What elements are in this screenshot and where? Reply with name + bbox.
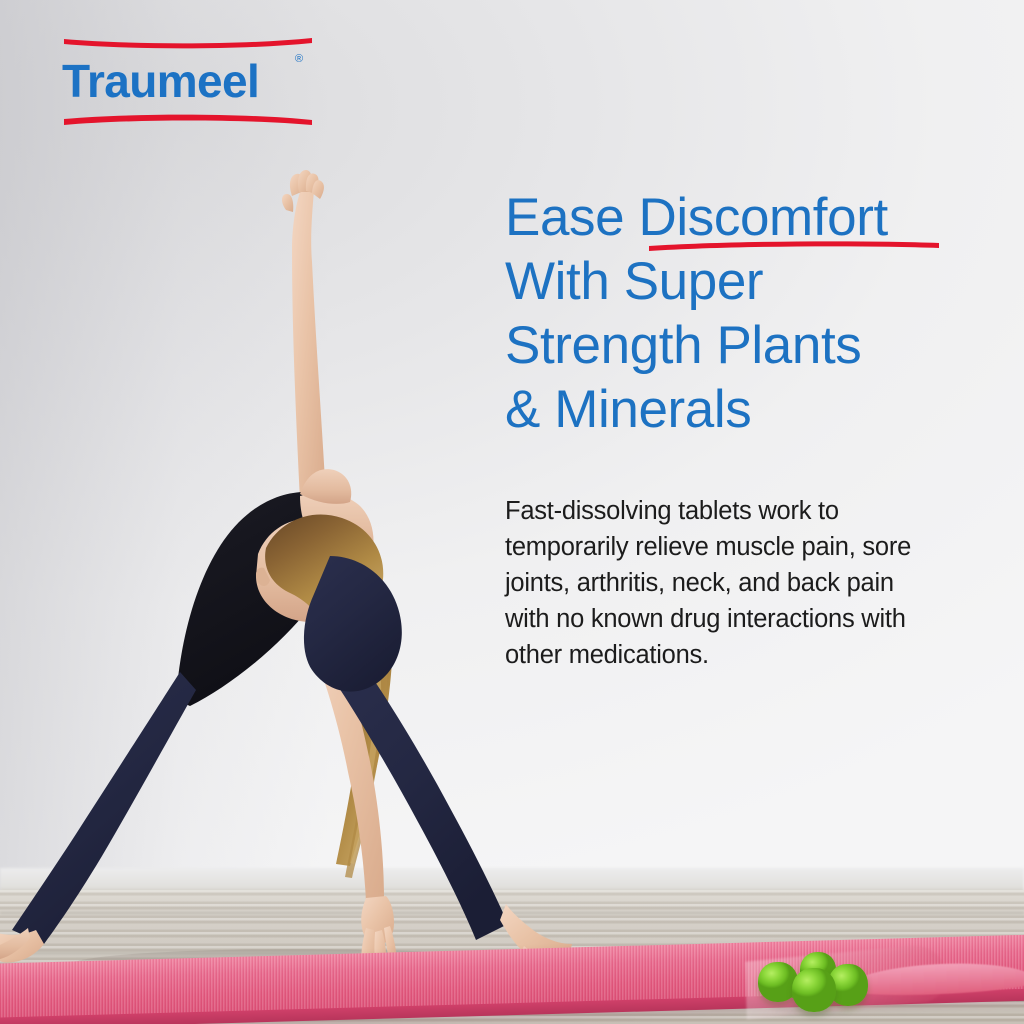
logo-rule-bottom-icon bbox=[62, 114, 314, 128]
logo-rule-top-icon bbox=[62, 36, 314, 50]
dumbbell-pair bbox=[756, 946, 868, 1018]
logo-wordmark: Traumeel bbox=[62, 52, 259, 110]
yoga-mat bbox=[0, 930, 1024, 1020]
body-copy: Fast-dissolving tablets work to temporar… bbox=[505, 493, 967, 673]
copy-block: Ease Discomfort With Super Strength Plan… bbox=[505, 186, 977, 442]
headline-line-2: With Super bbox=[505, 250, 977, 314]
raised-arm bbox=[292, 190, 326, 500]
traumeel-logo[interactable]: Traumeel ® bbox=[62, 36, 324, 134]
headline-line-4: & Minerals bbox=[505, 378, 977, 442]
advertisement-canvas: Traumeel ® Ease Discomfort With Super St… bbox=[0, 0, 1024, 1024]
body-line-5: other medications. bbox=[505, 637, 967, 673]
left-leg bbox=[12, 672, 196, 944]
body-line-3: joints, arthritis, neck, and back pain bbox=[505, 565, 967, 601]
dumbbell-head bbox=[792, 968, 836, 1012]
headline-underline-icon bbox=[648, 240, 940, 251]
headline-line-3: Strength Plants bbox=[505, 314, 977, 378]
body-line-1: Fast-dissolving tablets work to bbox=[505, 493, 967, 529]
page-title: Ease Discomfort With Super Strength Plan… bbox=[505, 186, 977, 442]
body-line-4: with no known drug interactions with bbox=[505, 601, 967, 637]
body-line-2: temporarily relieve muscle pain, sore bbox=[505, 529, 967, 565]
registered-trademark-icon: ® bbox=[295, 53, 303, 65]
